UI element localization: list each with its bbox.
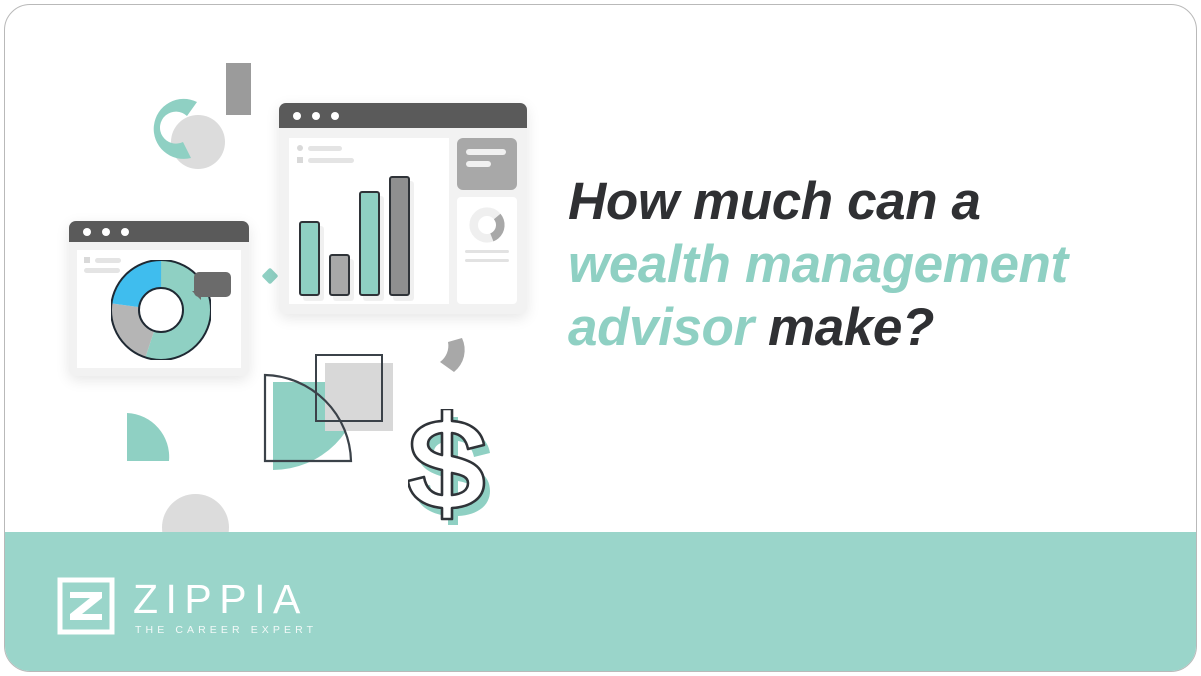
window-dot-icon (312, 112, 320, 120)
callout-bubble (194, 272, 231, 297)
zippia-logo-text: ZIPPIA THE CAREER EXPERT (133, 577, 317, 636)
gray-wedge-shape (432, 336, 472, 376)
donut-window-body (69, 242, 249, 376)
legend-marker-square-icon (297, 157, 303, 163)
hero-illustration (5, 5, 565, 605)
bar-chart-bars (299, 181, 429, 296)
bar-chart-panel (289, 138, 449, 304)
gray-square-outline-shape (315, 354, 383, 422)
zippia-logo[interactable]: ZIPPIA THE CAREER EXPERT (57, 575, 317, 637)
legend-marker-square-icon (84, 257, 90, 263)
headline-line-3: make? (754, 298, 934, 357)
legend-row (297, 145, 354, 151)
window-dot-icon (121, 228, 129, 236)
side-card-gray (457, 138, 517, 190)
side-under-line (465, 259, 509, 262)
teal-diamond-shape (262, 268, 279, 285)
side-card-line (466, 161, 491, 167)
teal-c-arc-shape (147, 94, 205, 166)
side-donut-chart (468, 206, 506, 244)
legend-bar (308, 158, 354, 163)
zippia-tagline: THE CAREER EXPERT (133, 625, 317, 636)
donut-window-canvas (77, 250, 241, 368)
dashboard-side-panel (457, 138, 517, 304)
bar-item (389, 176, 410, 296)
dollar-sign-icon (408, 409, 508, 525)
window-dot-icon (331, 112, 339, 120)
side-under-line (465, 250, 509, 253)
bar-item (359, 191, 380, 296)
dashboard-window-body (279, 128, 527, 314)
donut-window-titlebar (69, 221, 249, 242)
bar-item (299, 221, 320, 296)
dashboard-window (279, 103, 527, 314)
window-dot-icon (102, 228, 110, 236)
window-dot-icon (293, 112, 301, 120)
social-card: How much can a wealth management advisor… (4, 4, 1197, 672)
gray-bar-shape (226, 63, 251, 115)
page-title: How much can a wealth management advisor… (568, 170, 1168, 359)
window-dot-icon (83, 228, 91, 236)
zippia-wordmark: ZIPPIA (133, 579, 317, 620)
legend-marker-circle-icon (297, 145, 303, 151)
bar-chart-legend (297, 145, 354, 169)
bar-item (329, 254, 350, 296)
dashboard-window-titlebar (279, 103, 527, 128)
headline-accent-2: advisor (568, 298, 754, 357)
donut-window (69, 221, 249, 376)
headline-accent-1: wealth management (568, 235, 1068, 294)
side-card-white (457, 197, 517, 304)
legend-bar (308, 146, 342, 151)
zippia-logo-mark-icon (57, 577, 115, 635)
teal-quarter-small-shape (123, 413, 171, 463)
side-card-line (466, 149, 506, 155)
headline-line-1: How much can a (568, 172, 981, 231)
legend-row (297, 157, 354, 163)
